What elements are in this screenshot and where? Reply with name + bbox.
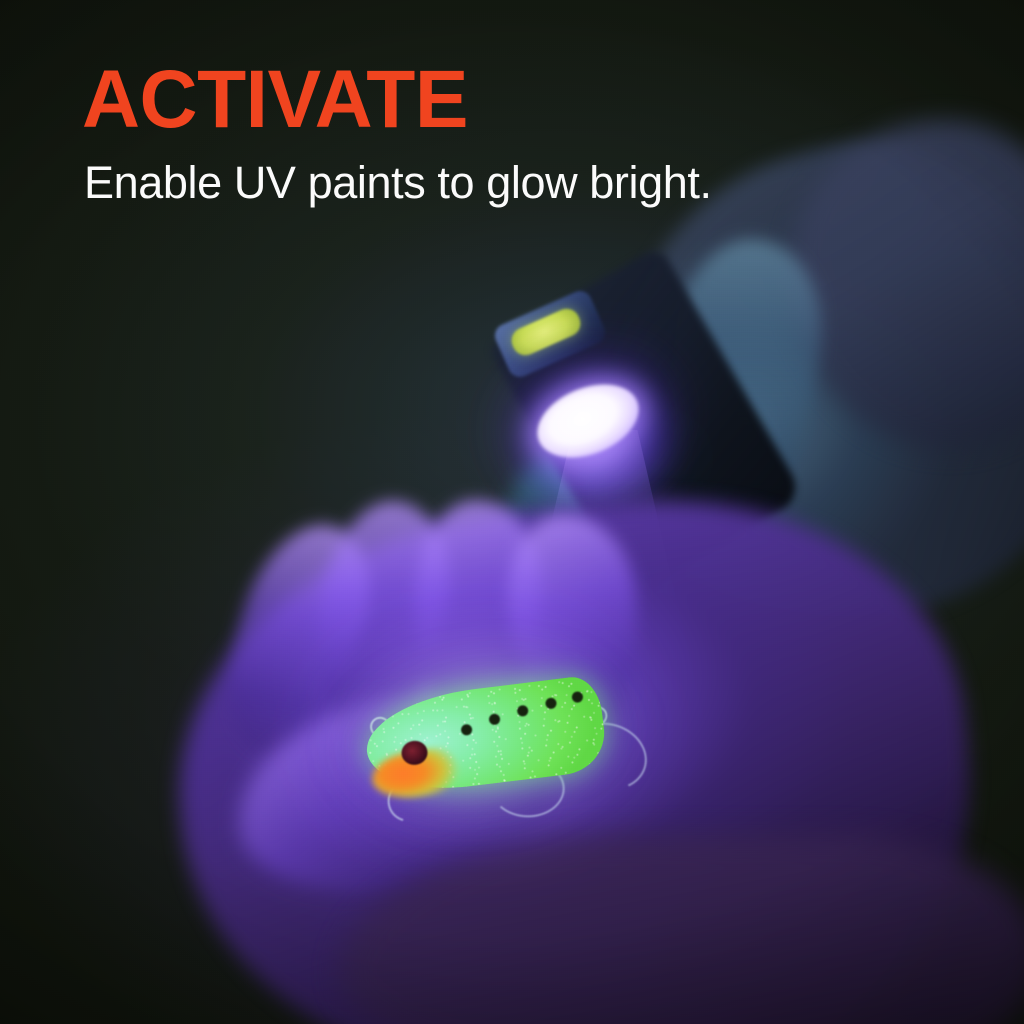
- fishing-lure: [360, 666, 612, 806]
- page-subtitle: Enable UV paints to glow bright.: [84, 159, 922, 206]
- uv-lifestyle-panel: ACTIVATE Enable UV paints to glow bright…: [0, 0, 1024, 1024]
- text-overlay: ACTIVATE Enable UV paints to glow bright…: [82, 62, 922, 207]
- page-title: ACTIVATE: [82, 62, 905, 137]
